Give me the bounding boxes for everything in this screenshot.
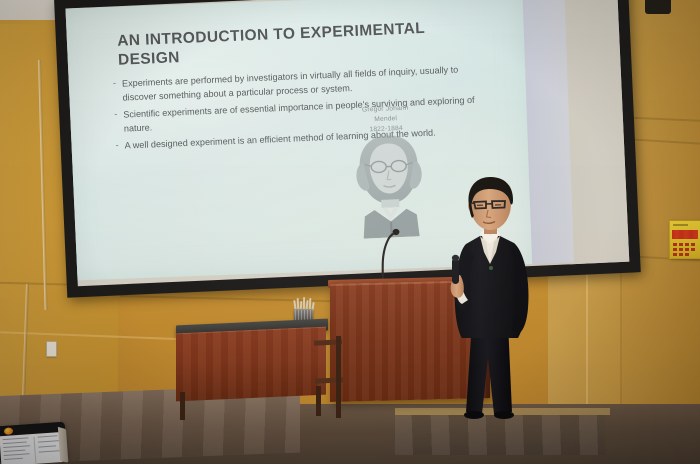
notice-text-row	[673, 248, 697, 251]
notice-header-line	[673, 224, 688, 226]
floor-tiles-right	[395, 415, 605, 455]
side-table	[176, 327, 326, 402]
table-leg	[180, 392, 185, 420]
notice-text-row	[673, 243, 697, 246]
mendel-portrait-icon	[345, 128, 433, 239]
bullet-dash-icon: -	[113, 77, 117, 91]
yellow-safety-notice	[669, 220, 700, 259]
laptop-screen[interactable]	[0, 431, 63, 464]
wall-switch-plate[interactable]	[46, 341, 57, 357]
notice-text-row	[673, 253, 691, 256]
bullet-dash-icon: -	[114, 108, 118, 122]
laptop-base-edge	[58, 427, 69, 463]
laptop-logo-icon	[4, 427, 13, 435]
table-wood-grain	[176, 327, 326, 402]
presenter-speaking	[436, 172, 562, 420]
table-leg	[336, 336, 341, 418]
gooseneck-microphone	[383, 226, 386, 284]
bullet-dash-icon: -	[115, 138, 119, 152]
table-leg	[316, 386, 321, 416]
lecture-hall-photo: AN INTRODUCTION TO EXPERIMENTAL DESIGN -…	[0, 0, 700, 464]
open-laptop[interactable]	[0, 421, 71, 464]
notice-title-band	[672, 230, 698, 239]
slide-title: AN INTRODUCTION TO EXPERIMENTAL DESIGN	[117, 18, 448, 71]
ceiling-mount-bracket	[645, 0, 671, 14]
